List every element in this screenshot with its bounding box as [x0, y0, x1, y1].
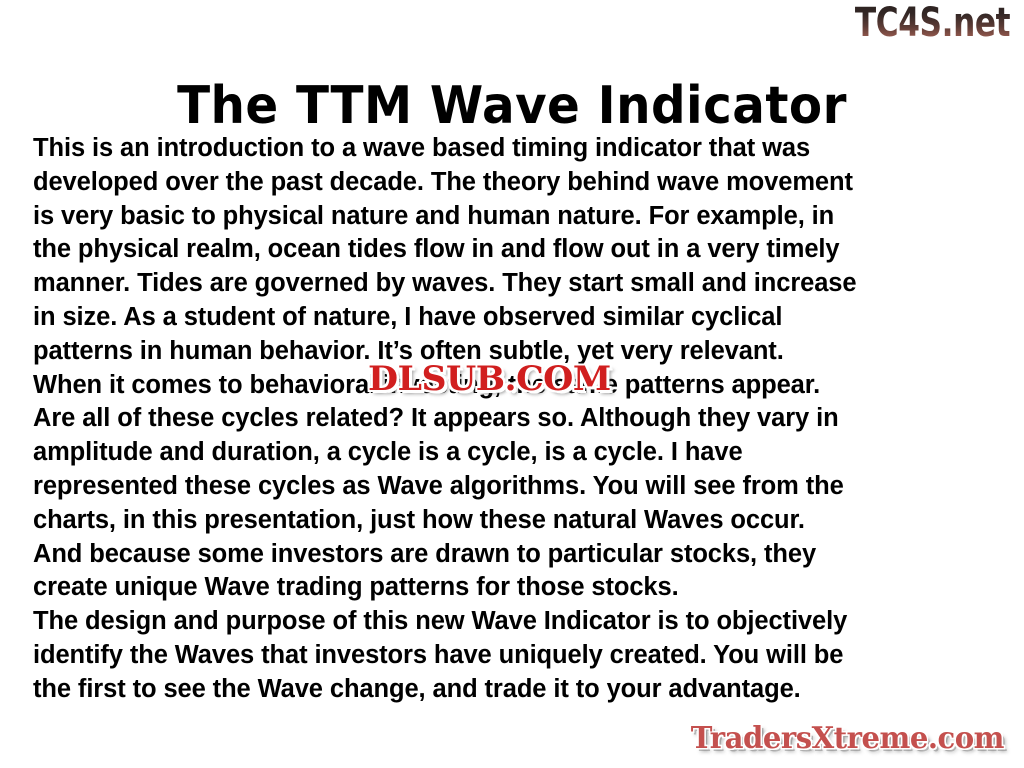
body-line: And because some investors are drawn to … — [33, 538, 1001, 572]
body-text-block: This is an introduction to a wave based … — [33, 132, 1001, 707]
brand-logo-tc4s: TC4S.net — [855, 2, 1010, 44]
slide-canvas: TC4S.net The TTM Wave Indicator This is … — [0, 0, 1024, 768]
body-line: Are all of these cycles related? It appe… — [33, 402, 1001, 436]
body-line: is very basic to physical nature and hum… — [33, 200, 1001, 234]
body-line: identify the Waves that investors have u… — [33, 639, 1001, 673]
body-line: manner. Tides are governed by waves. The… — [33, 267, 1001, 301]
body-line: the first to see the Wave change, and tr… — [33, 673, 1001, 707]
body-line: developed over the past decade. The theo… — [33, 166, 1001, 200]
footer-logo-tradersxtreme: TradersXtreme.com — [691, 722, 1004, 756]
page-title: The TTM Wave Indicator — [36, 75, 988, 137]
watermark-dlsub: DLSUB.COM — [368, 360, 611, 398]
body-line: The design and purpose of this new Wave … — [33, 605, 1001, 639]
body-line: This is an introduction to a wave based … — [33, 132, 1001, 166]
body-line: create unique Wave trading patterns for … — [33, 571, 1001, 605]
body-line: the physical realm, ocean tides flow in … — [33, 233, 1001, 267]
body-line: amplitude and duration, a cycle is a cyc… — [33, 436, 1001, 470]
body-line: represented these cycles as Wave algorit… — [33, 470, 1001, 504]
body-line: in size. As a student of nature, I have … — [33, 301, 1001, 335]
body-line: charts, in this presentation, just how t… — [33, 504, 1001, 538]
